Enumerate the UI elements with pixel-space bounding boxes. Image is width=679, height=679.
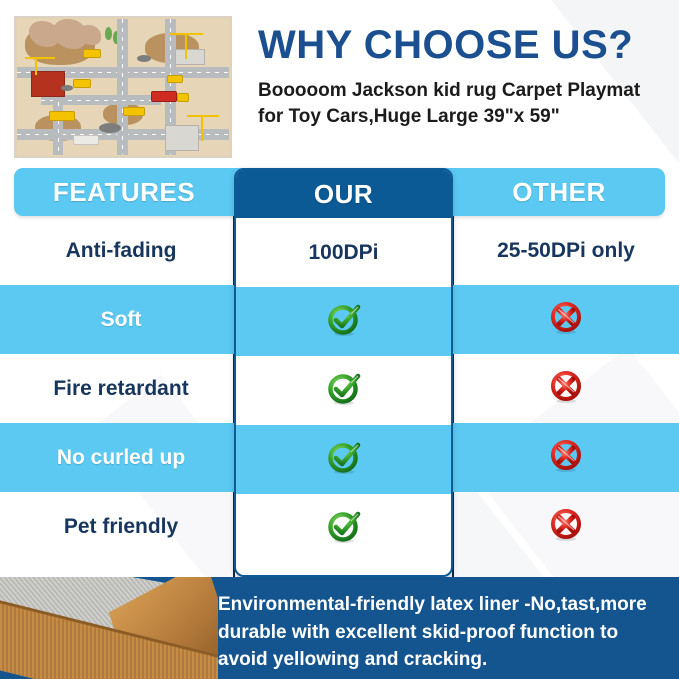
cell-other: 25-50DPi only: [453, 216, 679, 285]
cell-feature: Fire retardant: [8, 354, 234, 423]
cell-ours: [236, 425, 451, 494]
cross-icon: [549, 439, 583, 473]
column-header-other: OTHER: [453, 168, 665, 216]
cell-feature: Anti-fading: [8, 216, 234, 285]
check-icon: [327, 303, 361, 337]
page-title: WHY CHOOSE US?: [258, 24, 670, 66]
column-header-features: FEATURES: [14, 168, 234, 216]
rug-backing-image: [0, 577, 218, 679]
cell-other: [453, 492, 679, 561]
cross-icon: [549, 301, 583, 335]
cross-icon: [549, 508, 583, 542]
our-column-highlight: OUR 100DPi: [234, 168, 453, 577]
comparison-table: FEATURES OTHER Anti-fading 25-50DPi only…: [0, 168, 679, 577]
cell-ours: [236, 494, 451, 563]
check-icon: [327, 372, 361, 406]
cell-feature: No curled up: [8, 423, 234, 492]
cell-other: [453, 423, 679, 492]
bottom-banner: Environmental-friendly latex liner -No,t…: [0, 577, 679, 679]
cell-ours: [236, 356, 451, 425]
cell-ours: 100DPi: [236, 218, 451, 287]
check-icon: [327, 441, 361, 475]
hero-section: WHY CHOOSE US? Booooom Jackson kid rug C…: [0, 0, 679, 160]
product-subtitle: Booooom Jackson kid rug Carpet Playmat f…: [258, 78, 663, 129]
check-icon: [327, 510, 361, 544]
cell-feature: Pet friendly: [8, 492, 234, 561]
cell-feature: Soft: [8, 285, 234, 354]
playmat-illustration: [17, 19, 229, 155]
page-root: WHY CHOOSE US? Booooom Jackson kid rug C…: [0, 0, 679, 679]
column-header-our: OUR: [236, 170, 451, 218]
product-image: [14, 16, 232, 158]
banner-description: Environmental-friendly latex liner -No,t…: [218, 591, 663, 674]
cell-other: [453, 354, 679, 423]
cell-ours: [236, 287, 451, 356]
cross-icon: [549, 370, 583, 404]
cell-other: [453, 285, 679, 354]
